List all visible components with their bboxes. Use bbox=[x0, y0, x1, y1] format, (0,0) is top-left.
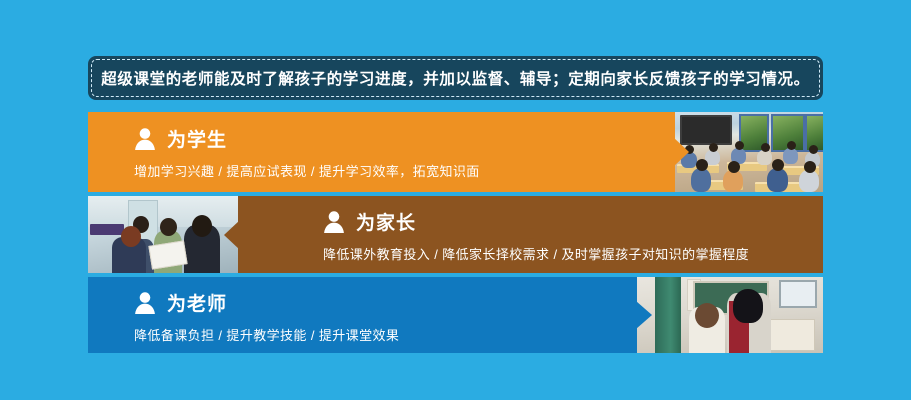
parents-title-line: 为家长 bbox=[323, 208, 749, 235]
cabinet bbox=[767, 319, 815, 351]
promo-banner-graphic: 超级课堂的老师能及时了解孩子的学习进度，并加以监督、辅导；定期向家长反馈孩子的学… bbox=[0, 0, 911, 400]
parents-subtitle: 降低课外教育投入 / 降低家长择校需求 / 及时掌握孩子对知识的掌握程度 bbox=[323, 244, 749, 263]
teachers-title-line: 为老师 bbox=[134, 289, 399, 316]
benefit-row-parents[interactable]: 为家长 降低课外教育投入 / 降低家长择校需求 / 及时掌握孩子对知识的掌握程度 bbox=[88, 196, 823, 273]
photo-notch-arrow bbox=[224, 221, 238, 249]
students-subtitle: 增加学习兴趣 / 提高应试表现 / 提升学习效率，拓宽知识面 bbox=[134, 161, 480, 180]
benefit-row-students[interactable]: 为学生 增加学习兴趣 / 提高应试表现 / 提升学习效率，拓宽知识面 bbox=[88, 112, 823, 192]
students-photo bbox=[675, 112, 823, 192]
parents-title: 为家长 bbox=[356, 208, 416, 235]
classroom-scene bbox=[675, 112, 823, 192]
parents-consulting-scene bbox=[88, 196, 238, 273]
user-icon bbox=[134, 291, 156, 315]
teachers-text-block: 为老师 降低备课负担 / 提升教学技能 / 提升课堂效果 bbox=[134, 289, 399, 344]
photo-notch-arrow bbox=[637, 301, 652, 329]
students-text-block: 为学生 增加学习兴趣 / 提高应试表现 / 提升学习效率，拓宽知识面 bbox=[134, 125, 480, 180]
parents-photo bbox=[88, 196, 238, 273]
photo-notch-arrow bbox=[675, 138, 689, 166]
teachers-subtitle: 降低备课负担 / 提升教学技能 / 提升课堂效果 bbox=[134, 325, 399, 344]
user-icon bbox=[134, 127, 156, 151]
tutoring-scene bbox=[637, 277, 823, 353]
parents-text-block: 为家长 降低课外教育投入 / 降低家长择校需求 / 及时掌握孩子对知识的掌握程度 bbox=[323, 208, 749, 263]
teachers-photo bbox=[637, 277, 823, 353]
projector-screen bbox=[779, 280, 817, 308]
headline-banner: 超级课堂的老师能及时了解孩子的学习进度，并加以监督、辅导；定期向家长反馈孩子的学… bbox=[88, 56, 823, 100]
wall-sign bbox=[90, 224, 124, 235]
green-partition bbox=[655, 277, 681, 353]
user-icon bbox=[323, 210, 345, 234]
teachers-title: 为老师 bbox=[167, 289, 227, 316]
banner-headline-text: 超级课堂的老师能及时了解孩子的学习进度，并加以监督、辅导；定期向家长反馈孩子的学… bbox=[101, 67, 809, 89]
students-title-line: 为学生 bbox=[134, 125, 480, 152]
benefit-row-teachers[interactable]: 为老师 降低备课负担 / 提升教学技能 / 提升课堂效果 bbox=[88, 277, 823, 353]
students-title: 为学生 bbox=[167, 125, 227, 152]
